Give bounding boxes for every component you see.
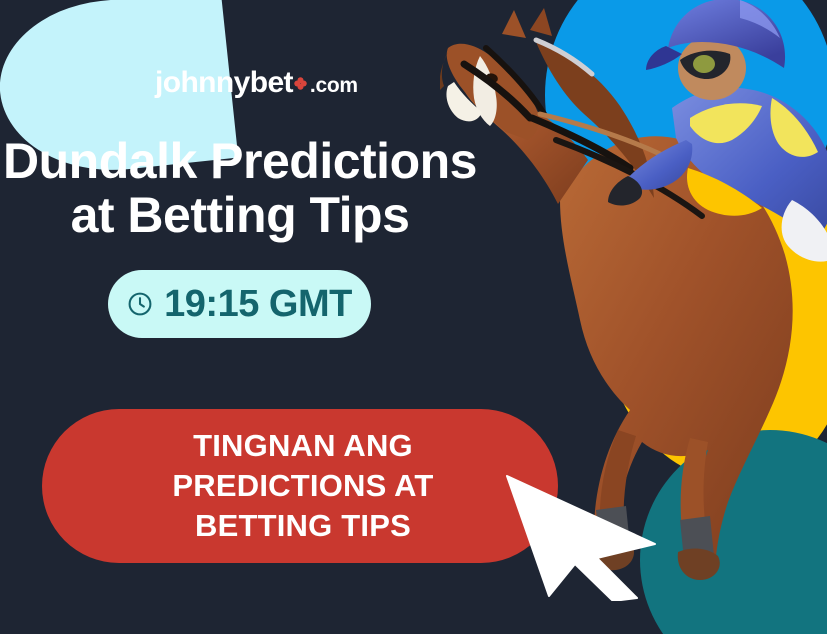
time-badge: 19:15 GMT [108,270,371,338]
clover-icon [294,77,307,90]
promo-banner: johnnybet .com Dundalk Predictions at Be… [0,0,827,634]
clock-icon [127,291,153,317]
headline-line-1: Dundalk Predictions [0,134,480,188]
page-title: Dundalk Predictions at Betting Tips [0,134,480,242]
cta-line-1: TINGNAN ANG [172,426,433,466]
cta-line-2: PREDICTIONS AT [172,466,433,506]
cta-line-3: BETTING TIPS [172,506,433,546]
mouse-cursor-icon [505,466,690,601]
brand-logo[interactable]: johnnybet .com [155,68,358,98]
brand-domain-suffix: .com [310,75,358,96]
cta-button-label: TINGNAN ANG PREDICTIONS AT BETTING TIPS [166,426,433,547]
time-badge-label: 19:15 GMT [164,285,352,323]
brand-name: johnnybet [155,68,293,98]
headline-line-2: at Betting Tips [0,188,480,242]
cta-button[interactable]: TINGNAN ANG PREDICTIONS AT BETTING TIPS [42,409,558,563]
